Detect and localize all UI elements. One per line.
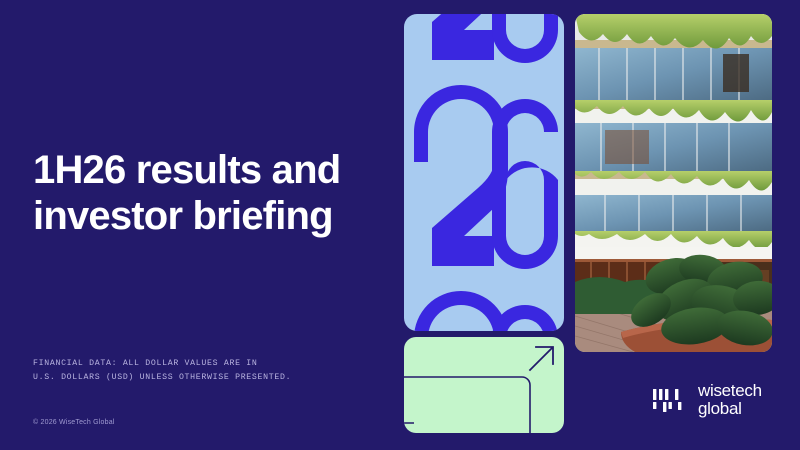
- logo-wordmark: wisetech global: [698, 382, 762, 419]
- copyright-notice: © 2026 WiseTech Global: [33, 419, 115, 426]
- arrow-up-right-icon: [530, 347, 553, 370]
- numeral-26-repeat-top: [414, 14, 558, 63]
- slide-root: 1H26 results and investor briefing FINAN…: [0, 0, 800, 450]
- building-photo-artwork: [575, 14, 772, 352]
- numeral-26-repeat-bottom: [414, 291, 558, 331]
- outline-path-corner: [404, 377, 414, 423]
- graphic-card-green: [404, 337, 564, 433]
- logo-line-1: wisetech: [698, 382, 762, 400]
- numeral-26-artwork: [404, 14, 564, 331]
- logo-line-2: global: [698, 400, 762, 418]
- wisetech-global-logo: wisetech global: [651, 381, 762, 419]
- financial-disclaimer: FINANCIAL DATA: ALL DOLLAR VALUES ARE IN…: [33, 357, 373, 385]
- outline-path: [404, 377, 530, 433]
- building-photo: [575, 14, 772, 352]
- page-title: 1H26 results and investor briefing: [33, 148, 393, 239]
- numeral-26-main: [414, 85, 558, 269]
- title-block: 1H26 results and investor briefing: [33, 148, 393, 239]
- green-card-artwork: [404, 337, 564, 433]
- graphic-card-26: [404, 14, 564, 331]
- wisetech-logo-mark-icon: [651, 381, 689, 419]
- facade-floors: [575, 14, 772, 247]
